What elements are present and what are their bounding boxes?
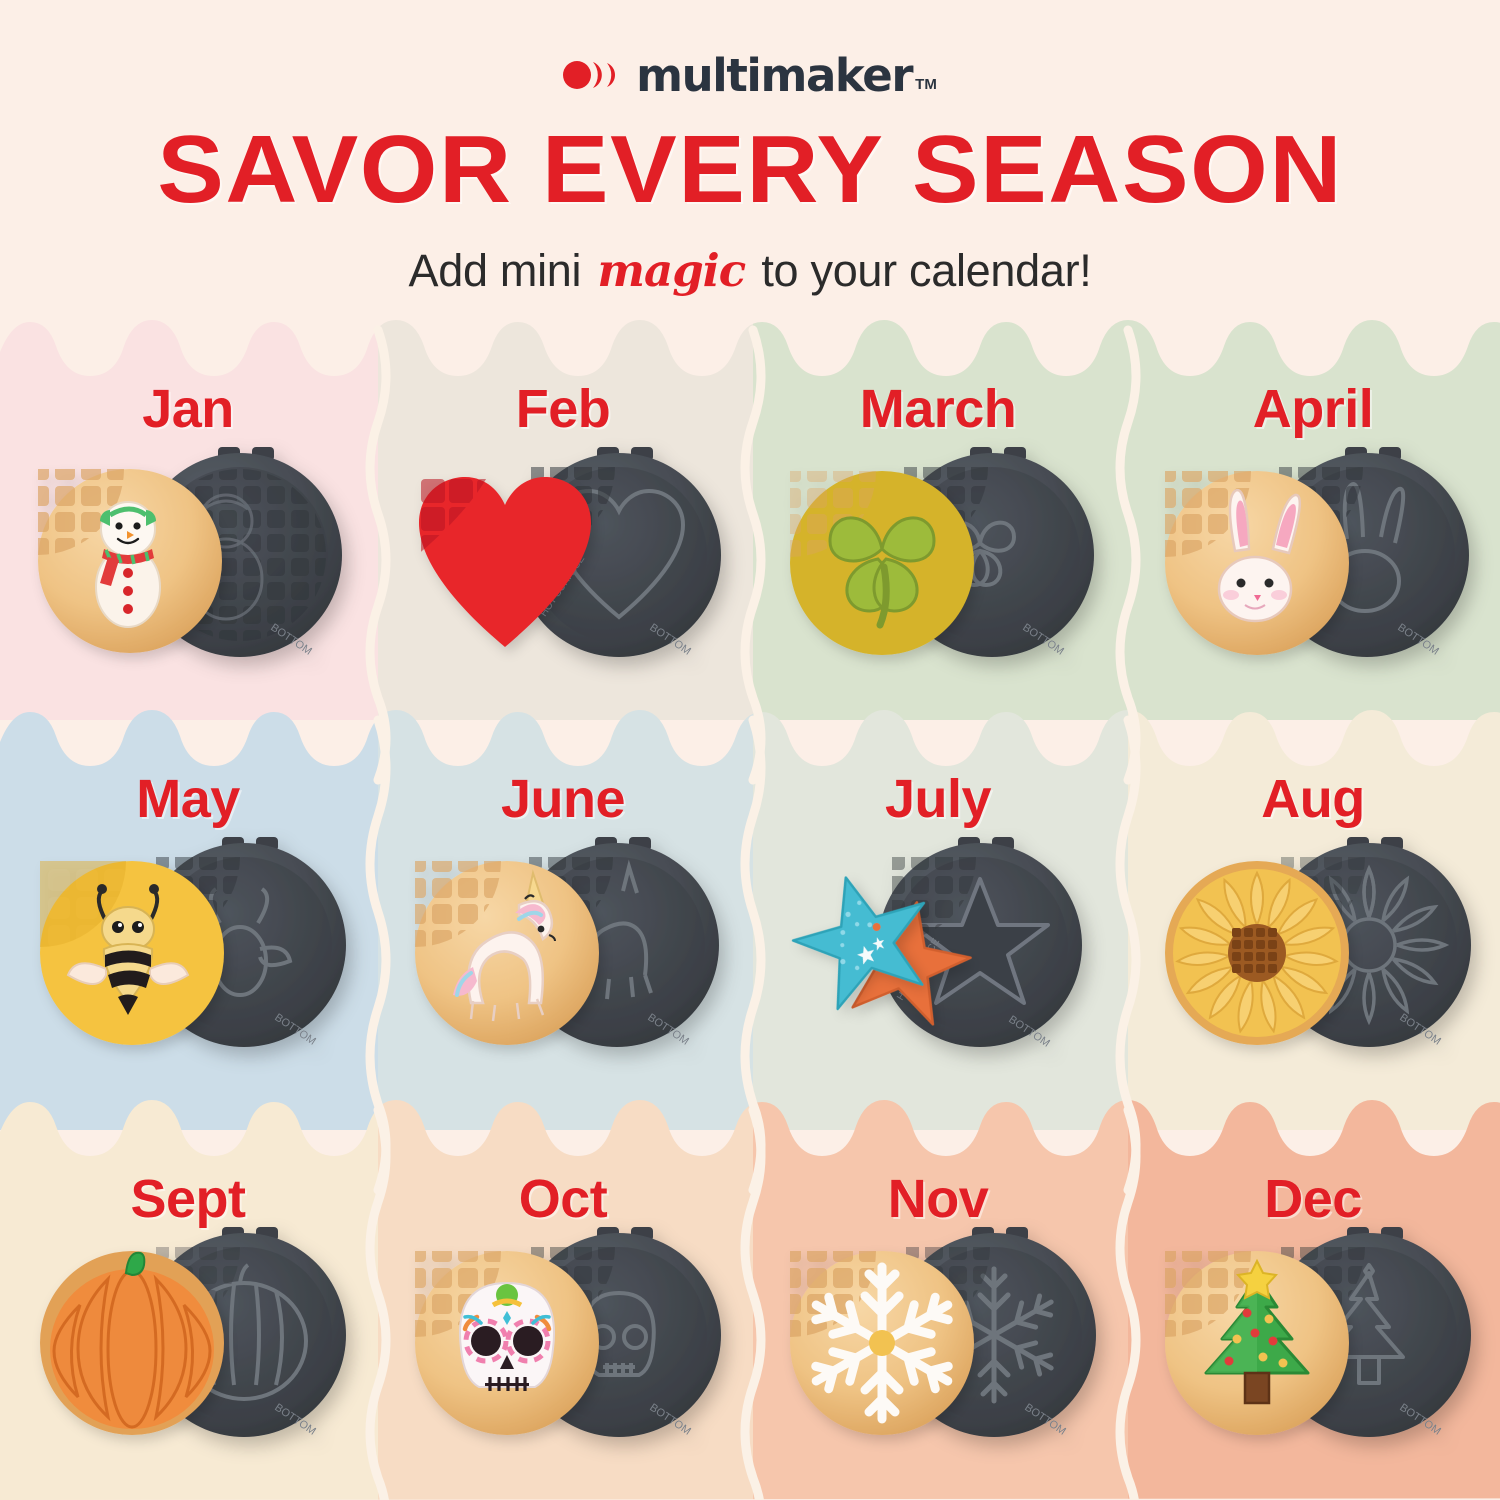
product-april[interactable]: BOTTOM (1165, 447, 1469, 658)
month-label-april: April (1253, 378, 1374, 440)
page-headline: SAVOR EVERY SEASON (157, 122, 1343, 218)
product-may[interactable]: BOTTOM (40, 837, 346, 1048)
page-subhead: Add mini magic to your calendar! (409, 244, 1092, 297)
multimaker-signal-mark-icon (563, 58, 625, 92)
product-jan[interactable]: BOTTOM (38, 447, 342, 658)
product-nov[interactable]: BOTTOM (790, 1227, 1096, 1438)
product-june[interactable]: BOTTOM (415, 837, 719, 1048)
product-march[interactable]: BOTTOM (790, 447, 1094, 658)
subhead-before: Add mini (409, 245, 594, 296)
brand-wordmark: multimaker (636, 53, 912, 98)
month-label-oct: Oct (519, 1168, 608, 1230)
month-label-aug: Aug (1261, 768, 1364, 830)
month-label-jan: Jan (142, 378, 234, 440)
subhead-accent-magic: magic (593, 244, 749, 297)
month-label-july: July (885, 768, 991, 830)
month-label-june: June (501, 768, 625, 830)
month-label-may: May (136, 768, 240, 830)
header: multimaker TM SAVOR EVERY SEASON Add min… (0, 0, 1500, 325)
month-label-march: March (860, 378, 1017, 440)
infographic-page: BOTTOM (0, 0, 1500, 1500)
month-label-sept: Sept (130, 1168, 245, 1230)
trademark-symbol: TM (915, 76, 937, 93)
month-label-feb: Feb (516, 378, 611, 440)
brand-logo[interactable]: multimaker TM (563, 52, 937, 98)
product-dec[interactable]: BOTTOM (1165, 1227, 1471, 1438)
month-label-nov: Nov (888, 1168, 989, 1230)
subhead-after: to your calendar! (749, 245, 1091, 296)
product-oct[interactable]: BOTTOM HOT SURFACE (415, 1227, 721, 1438)
month-label-dec: Dec (1264, 1168, 1362, 1230)
